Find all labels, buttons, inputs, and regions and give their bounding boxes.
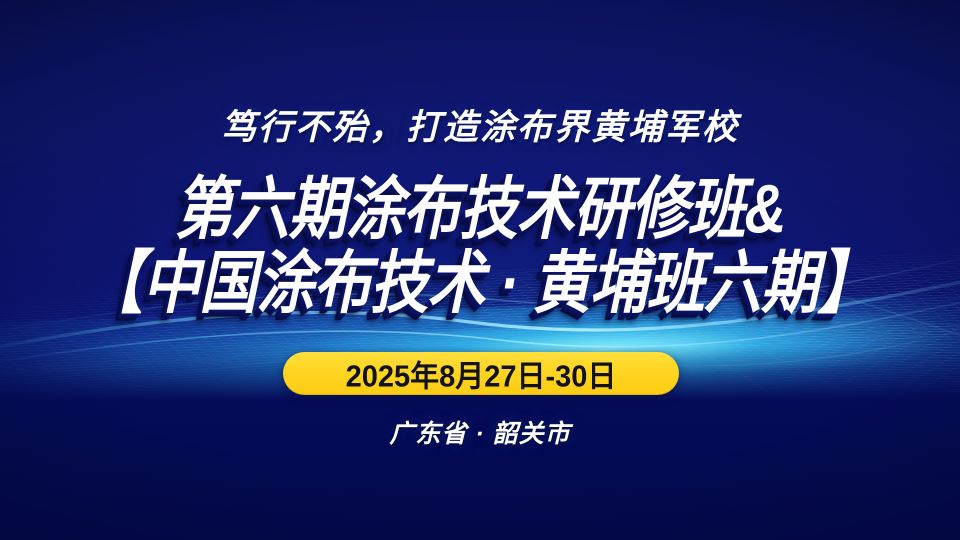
poster-content: 笃行不殆，打造涂布界黄埔军校 第六期涂布技术研修班& 【中国涂布技术 · 黄埔班… [0, 0, 960, 540]
poster-title-line-1: 第六期涂布技术研修班& [0, 176, 960, 244]
event-poster: 笃行不殆，打造涂布界黄埔军校 第六期涂布技术研修班& 【中国涂布技术 · 黄埔班… [0, 0, 960, 540]
poster-title: 第六期涂布技术研修班& 【中国涂布技术 · 黄埔班六期】 [0, 176, 960, 308]
event-date-text: 2025年8月27日-30日 [346, 352, 617, 396]
event-location: 广东省 · 韶关市 [0, 414, 960, 450]
poster-title-line-2: 【中国涂布技术 · 黄埔班六期】 [0, 250, 960, 318]
event-date-badge: 2025年8月27日-30日 [283, 352, 679, 395]
poster-subtitle: 笃行不殆，打造涂布界黄埔军校 [0, 99, 960, 150]
